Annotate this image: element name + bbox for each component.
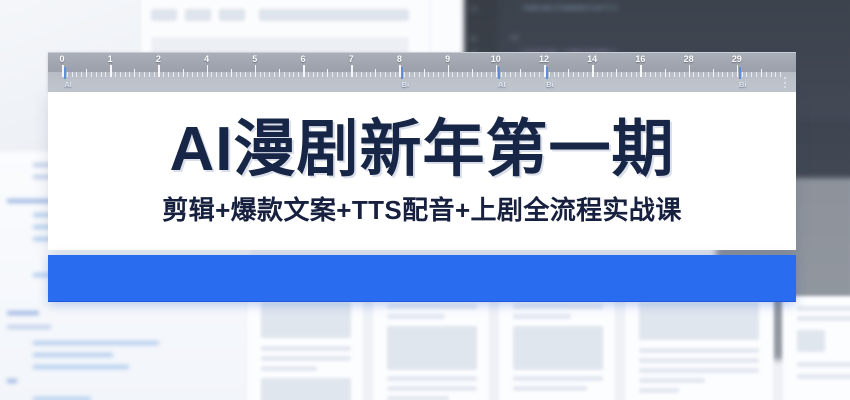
ruler-tick-minor [120, 72, 121, 77]
ruler-tick-mid [616, 69, 617, 77]
ruler-tick-major [207, 65, 209, 77]
ruler-tick-minor [163, 72, 164, 77]
ruler-tick-minor [149, 72, 150, 77]
ruler-tick-minor [216, 72, 217, 77]
bg-skeleton-card [372, 296, 490, 400]
page-title: AI漫剧新年第一期 [169, 119, 674, 181]
ruler-tick-minor [462, 72, 463, 77]
ruler-tick-minor [96, 72, 97, 77]
ruler-tick-major [351, 65, 353, 77]
ruler-tick-minor [621, 72, 622, 77]
ruler-tick-mid [375, 69, 376, 77]
ruler-tick-minor [211, 72, 212, 77]
ruler-caret [401, 67, 403, 79]
ruler-tick-minor [645, 72, 646, 77]
accent-bar [48, 255, 796, 302]
ruler[interactable]: 012456789101214162829AIBiAIBiBi [48, 52, 796, 92]
ruler-tick-minor [597, 72, 598, 77]
ruler-tick-minor [173, 72, 174, 77]
ruler-tick-minor [457, 72, 458, 77]
ruler-tick-minor [72, 72, 73, 77]
ruler-mark[interactable]: AI [64, 80, 72, 89]
ruler-tick-minor [510, 72, 511, 77]
ruler-tick-major [448, 65, 450, 77]
ruler-tick-minor [178, 72, 179, 77]
ruler-number: 8 [397, 54, 402, 64]
ruler-tick-minor [573, 72, 574, 77]
ruler-tick-minor [187, 72, 188, 77]
ruler-tick-minor [342, 72, 343, 77]
ruler-tick-mid [520, 69, 521, 77]
ruler-tick-mid [424, 69, 425, 77]
ruler-tick-minor [746, 72, 747, 77]
ruler-number: 7 [349, 54, 354, 64]
ruler-tick-mid [665, 69, 666, 77]
ruler-tick-minor [390, 72, 391, 77]
ruler-tick-minor [226, 72, 227, 77]
ruler-tick-minor [505, 72, 506, 77]
ruler-tick-minor [322, 72, 323, 77]
ruler-tick-minor [361, 72, 362, 77]
ruler-tick-minor [534, 72, 535, 77]
ruler-tick-minor [491, 72, 492, 77]
ruler-tick-minor [486, 72, 487, 77]
ruler-tick-minor [298, 72, 299, 77]
ruler-tick-minor [771, 72, 772, 77]
ruler-tick-minor [467, 72, 468, 77]
ruler-tick-minor [428, 72, 429, 77]
ruler-tick-minor [583, 72, 584, 77]
ruler-tick-minor [611, 72, 612, 77]
ruler-tick-minor [751, 72, 752, 77]
ruler-caret [498, 67, 500, 79]
ruler-number: 1 [108, 54, 113, 64]
ruler-tick-minor [414, 72, 415, 77]
ruler-tick-minor [346, 72, 347, 77]
ruler-tick-mid [761, 69, 762, 77]
ruler-tick-minor [563, 72, 564, 77]
ruler-tick-mid [279, 69, 280, 77]
ruler-tick-minor [289, 72, 290, 77]
ruler-tick-minor [81, 72, 82, 77]
ruler-number: 28 [684, 54, 694, 64]
ruler-tick-minor [515, 72, 516, 77]
ruler-tick-minor [409, 72, 410, 77]
ruler-tick-minor [284, 72, 285, 77]
ruler-tick-minor [192, 72, 193, 77]
bg-chip [151, 9, 177, 21]
ruler-tick-minor [129, 72, 130, 77]
ruler-caret [739, 67, 741, 79]
ruler-tick-minor [264, 72, 265, 77]
ruler-number: 6 [300, 54, 305, 64]
ruler-tick-minor [477, 72, 478, 77]
ruler-tick-minor [780, 72, 781, 77]
ruler-tick-minor [481, 72, 482, 77]
ruler-tick-minor [607, 72, 608, 77]
ruler-tick-minor [722, 72, 723, 77]
bg-skeleton-cards [246, 296, 850, 400]
ruler-tick-minor [452, 72, 453, 77]
ruler-tick-minor [380, 72, 381, 77]
ruler-number: 16 [635, 54, 645, 64]
bg-chip [219, 9, 245, 21]
ruler-number: 5 [252, 54, 257, 64]
ruler-tick-minor [660, 72, 661, 77]
bg-chip [185, 9, 211, 21]
ruler-tick-minor [578, 72, 579, 77]
ruler-number: 14 [587, 54, 597, 64]
ruler-tick-minor [395, 72, 396, 77]
ruler-tick-minor [308, 72, 309, 77]
ruler-tick-minor [125, 72, 126, 77]
ruler-tick-mid [568, 69, 569, 77]
ruler-tick-minor [385, 72, 386, 77]
ruler-tick-minor [727, 72, 728, 77]
ruler-tick-minor [370, 72, 371, 77]
ruler-tick-minor [438, 72, 439, 77]
ruler-tick-minor [115, 72, 116, 77]
ruler-tick-mid [86, 69, 87, 77]
bg-skeleton-card [246, 296, 364, 400]
ruler-tick-minor [775, 72, 776, 77]
ruler-number: 12 [539, 54, 549, 64]
ruler-tick-minor [105, 72, 106, 77]
ruler-tick-minor [693, 72, 694, 77]
ruler-caret [64, 67, 66, 79]
ruler-tick-minor [101, 72, 102, 77]
ruler-tick-minor [236, 72, 237, 77]
ruler-tick-minor [260, 72, 261, 77]
ruler-number: 9 [445, 54, 450, 64]
ruler-tick-minor [525, 72, 526, 77]
ruler-number: 29 [732, 54, 742, 64]
ruler-tick-minor [356, 72, 357, 77]
ruler-tick-minor [708, 72, 709, 77]
ruler-tick-major [689, 65, 691, 77]
ruler-tick-minor [313, 72, 314, 77]
ruler-mark[interactable]: Bi [739, 80, 747, 89]
ruler-tick-minor [332, 72, 333, 77]
ruler-tick-minor [404, 72, 405, 77]
ruler-tick-minor [650, 72, 651, 77]
page-subtitle: 剪辑+爆款文案+TTS配音+上剧全流程实战课 [162, 197, 681, 223]
ruler-tick-minor [245, 72, 246, 77]
bg-chip-wide [259, 9, 409, 21]
ruler-tick-minor [626, 72, 627, 77]
ruler-tick-mid [134, 69, 135, 77]
ruler-tick-minor [756, 72, 757, 77]
ruler-tick-minor [274, 72, 275, 77]
ruler-tick-minor [443, 72, 444, 77]
ruler-tick-mid [472, 69, 473, 77]
ruler-tick-minor [549, 72, 550, 77]
ruler-tick-mid [327, 69, 328, 77]
ruler-tick-minor [337, 72, 338, 77]
ruler-tick-minor [250, 72, 251, 77]
ruler-tick-major [255, 65, 257, 77]
ruler-tick-minor [655, 72, 656, 77]
ruler-tick-mid [231, 69, 232, 77]
ruler-tick-minor [202, 72, 203, 77]
vertical-dots-icon[interactable] [784, 77, 787, 88]
ruler-tick-minor [67, 72, 68, 77]
ruler-tick-minor [317, 72, 318, 77]
ruler-tick-minor [742, 72, 743, 77]
ruler-ticks: 012456789101214162829AIBiAIBiBi [48, 53, 796, 92]
ruler-tick-minor [197, 72, 198, 77]
ruler-tick-minor [539, 72, 540, 77]
ruler-number: 10 [491, 54, 501, 64]
ruler-tick-minor [679, 72, 680, 77]
ruler-tick-minor [366, 72, 367, 77]
ruler-tick-minor [168, 72, 169, 77]
ruler-tick-minor [530, 72, 531, 77]
bg-skeleton-card [624, 296, 774, 400]
ruler-tick-minor [684, 72, 685, 77]
ruler-tick-minor [433, 72, 434, 77]
ruler-tick-minor [554, 72, 555, 77]
ruler-tick-minor [91, 72, 92, 77]
ruler-tick-mid [183, 69, 184, 77]
ruler-tick-minor [631, 72, 632, 77]
ruler-tick-major [640, 65, 642, 77]
ruler-tick-minor [698, 72, 699, 77]
ruler-tick-minor [269, 72, 270, 77]
ruler-mark[interactable]: Bi [402, 80, 410, 89]
ruler-tick-minor [501, 72, 502, 77]
ruler-tick-minor [636, 72, 637, 77]
ruler-tick-major [158, 65, 160, 77]
ruler-tick-minor [154, 72, 155, 77]
ruler-number: 4 [204, 54, 209, 64]
bg-skeleton-card [782, 296, 850, 400]
ruler-number: 2 [156, 54, 161, 64]
ruler-number: 0 [59, 54, 64, 64]
ruler-tick-minor [76, 72, 77, 77]
ruler-tick-mid [713, 69, 714, 77]
ruler-tick-minor [674, 72, 675, 77]
ruler-tick-minor [419, 72, 420, 77]
bg-skeleton-card [498, 296, 616, 400]
ruler-mark[interactable]: AI [498, 80, 506, 89]
ruler-tick-minor [558, 72, 559, 77]
ruler-tick-minor [718, 72, 719, 77]
ruler-tick-minor [240, 72, 241, 77]
ruler-tick-major [592, 65, 594, 77]
ruler-tick-major [110, 65, 112, 77]
ruler-mark[interactable]: Bi [546, 80, 554, 89]
ruler-tick-minor [293, 72, 294, 77]
ruler-tick-minor [732, 72, 733, 77]
ruler-tick-minor [144, 72, 145, 77]
ruler-tick-minor [703, 72, 704, 77]
ruler-caret [546, 67, 548, 79]
title-card: AI漫剧新年第一期 剪辑+爆款文案+TTS配音+上剧全流程实战课 [48, 92, 796, 250]
ruler-tick-minor [587, 72, 588, 77]
ruler-tick-minor [139, 72, 140, 77]
ruler-tick-minor [602, 72, 603, 77]
ruler-tick-minor [221, 72, 222, 77]
ruler-tick-minor [766, 72, 767, 77]
ruler-tick-major [303, 65, 305, 77]
ruler-tick-minor [669, 72, 670, 77]
